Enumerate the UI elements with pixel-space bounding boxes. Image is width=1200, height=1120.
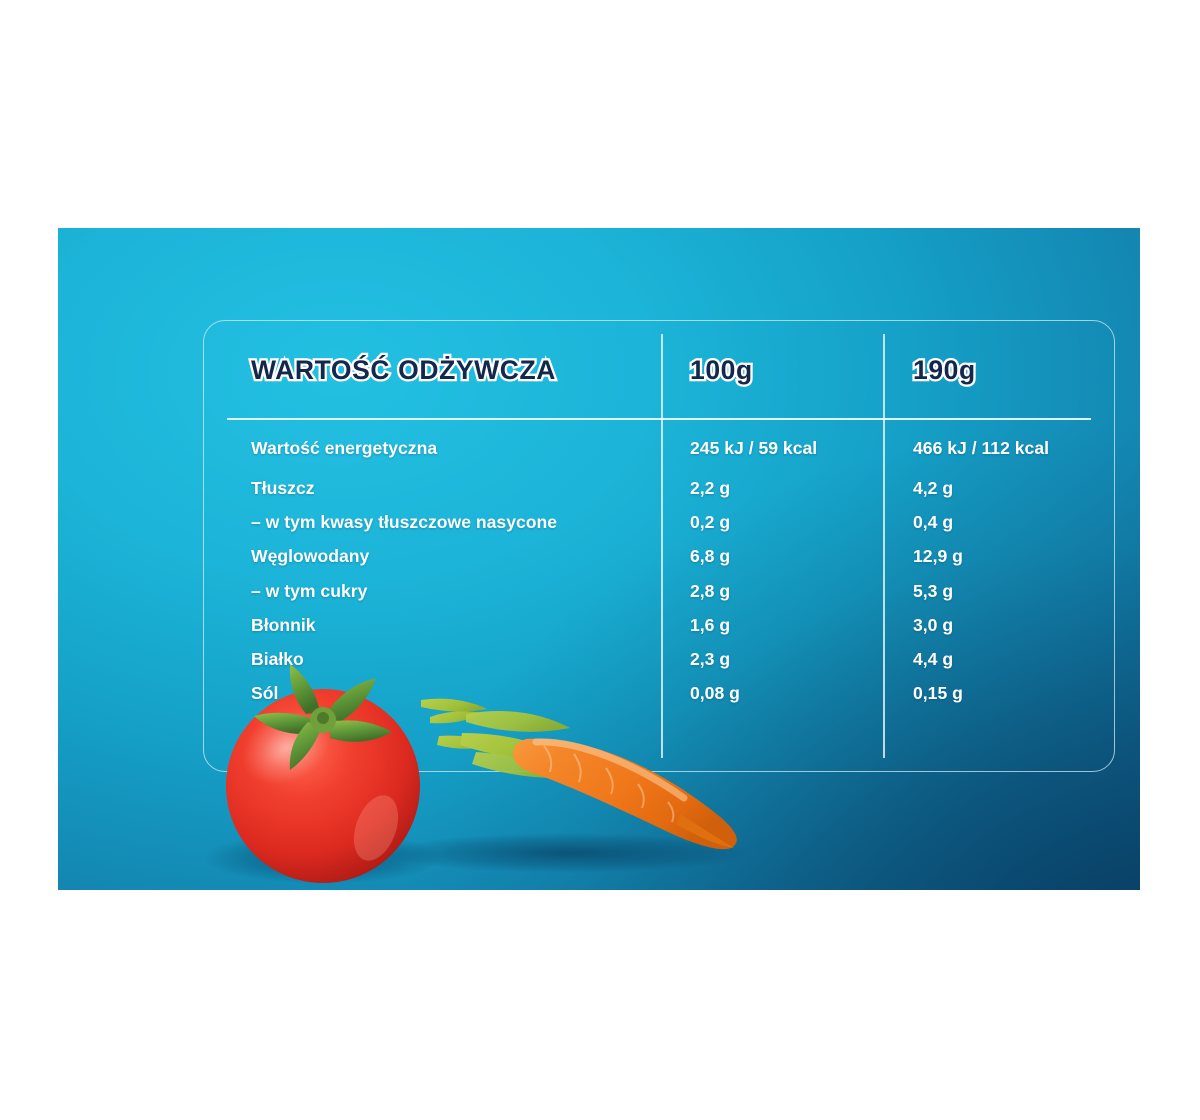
- row-value-100g: 6,8 g: [690, 546, 730, 567]
- row-value-100g: 0,2 g: [690, 512, 730, 533]
- table-row: Sól 0,08 g 0,15 g: [203, 683, 1115, 717]
- image-canvas: WARTOŚĆ ODŻYWCZA 100g 190g Wartość energ…: [0, 0, 1200, 1120]
- row-label: Tłuszcz: [251, 478, 315, 499]
- row-value-190g: 3,0 g: [913, 615, 953, 636]
- row-value-190g: 4,4 g: [913, 649, 953, 670]
- row-value-190g: 12,9 g: [913, 546, 963, 567]
- column-header-190g: 190g: [913, 355, 976, 386]
- table-row: Błonnik 1,6 g 3,0 g: [203, 615, 1115, 649]
- row-label: Sól: [251, 683, 278, 704]
- row-value-100g: 2,8 g: [690, 581, 730, 602]
- row-label: Wartość energetyczna: [251, 438, 437, 459]
- nutrition-table: WARTOŚĆ ODŻYWCZA 100g 190g Wartość energ…: [203, 320, 1115, 772]
- carrot-shadow: [383, 833, 753, 873]
- row-value-100g: 1,6 g: [690, 615, 730, 636]
- row-value-190g: 5,3 g: [913, 581, 953, 602]
- row-label: Węglowodany: [251, 546, 369, 567]
- row-label: – w tym cukry: [251, 581, 367, 602]
- row-value-100g: 0,08 g: [690, 683, 740, 704]
- row-value-100g: 245 kJ / 59 kcal: [690, 438, 817, 459]
- row-value-100g: 2,3 g: [690, 649, 730, 670]
- row-value-190g: 466 kJ / 112 kcal: [913, 438, 1049, 459]
- row-label: – w tym kwasy tłuszczowe nasycone: [251, 512, 557, 533]
- row-label: Błonnik: [251, 615, 316, 636]
- table-row: – w tym kwasy tłuszczowe nasycone 0,2 g …: [203, 512, 1115, 546]
- row-label: Białko: [251, 649, 304, 670]
- row-value-190g: 0,4 g: [913, 512, 953, 533]
- table-row: Wartość energetyczna 245 kJ / 59 kcal 46…: [203, 438, 1115, 478]
- column-header-100g: 100g: [690, 355, 753, 386]
- table-row: – w tym cukry 2,8 g 5,3 g: [203, 581, 1115, 615]
- nutrition-rows: Wartość energetyczna 245 kJ / 59 kcal 46…: [203, 438, 1115, 717]
- header-divider: [227, 418, 1091, 420]
- row-value-190g: 4,2 g: [913, 478, 953, 499]
- table-row: Tłuszcz 2,2 g 4,2 g: [203, 478, 1115, 512]
- tomato-shadow: [203, 832, 443, 884]
- nutrition-artwork-background: WARTOŚĆ ODŻYWCZA 100g 190g Wartość energ…: [58, 228, 1140, 890]
- row-value-190g: 0,15 g: [913, 683, 963, 704]
- table-title: WARTOŚĆ ODŻYWCZA: [251, 355, 556, 386]
- table-row: Białko 2,3 g 4,4 g: [203, 649, 1115, 683]
- row-value-100g: 2,2 g: [690, 478, 730, 499]
- table-row: Węglowodany 6,8 g 12,9 g: [203, 546, 1115, 580]
